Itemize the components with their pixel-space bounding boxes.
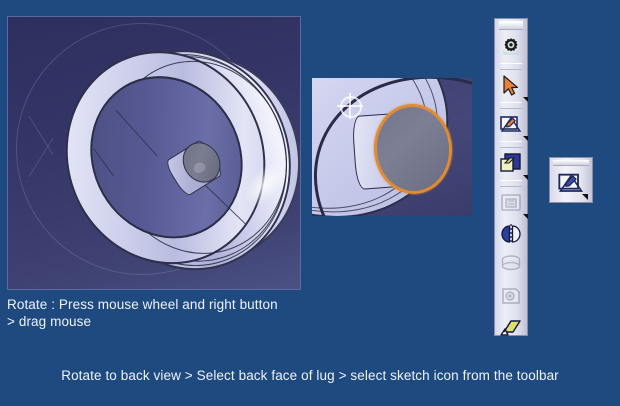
floating-sketch-icon-wrap[interactable] [553, 168, 589, 200]
toolbar-button-pad[interactable] [496, 149, 526, 179]
pad-icon [499, 152, 523, 176]
gear-icon [500, 36, 522, 58]
toolbar-button-mirror[interactable] [496, 219, 526, 249]
toolbar-button-tools-options[interactable] [496, 32, 526, 62]
rotate-caption-line1: Rotate : Press mouse wheel and right but… [7, 296, 337, 313]
floating-drag-handle[interactable] [553, 160, 589, 166]
toolbar-drag-handle[interactable] [499, 21, 523, 30]
toolbar-separator [500, 180, 522, 187]
floating-sketch-button[interactable] [549, 157, 593, 203]
rotate-instruction-caption: Rotate : Press mouse wheel and right but… [7, 296, 337, 330]
chevron-down-icon[interactable] [523, 175, 528, 180]
sketch-icon [499, 113, 523, 137]
toolbar-button-select[interactable] [496, 71, 526, 101]
toolbar-separator [500, 63, 522, 70]
rotate-caption-line2: > drag mouse [7, 313, 337, 330]
chevron-down-icon[interactable] [582, 194, 588, 200]
bottom-instruction-caption: Rotate to back view > Select back face o… [0, 368, 620, 383]
mirror-icon [499, 222, 523, 246]
zoomed-detail-view[interactable] [312, 78, 472, 216]
wheel-rim-model[interactable] [7, 16, 301, 290]
shaft-icon [499, 253, 523, 277]
draft-icon [499, 315, 523, 339]
toolbar-separator [500, 102, 522, 109]
crosshair-cursor-icon [340, 96, 362, 118]
screenshot-root: Rotate : Press mouse wheel and right but… [0, 0, 620, 406]
toolbar-button-hole[interactable] [496, 281, 526, 311]
chevron-down-icon[interactable] [523, 97, 528, 102]
toolbar-separator [500, 141, 522, 148]
chevron-down-icon[interactable] [523, 136, 528, 141]
select-arrow-icon [499, 74, 523, 98]
toolbar-button-shaft[interactable] [496, 250, 526, 280]
toolbar-button-sketch[interactable] [496, 110, 526, 140]
hole-icon [499, 284, 523, 308]
pocket-icon [499, 191, 523, 215]
3d-model-viewport[interactable] [7, 16, 301, 290]
toolbar-button-draft-angle[interactable] [496, 312, 526, 342]
toolbar-button-pocket[interactable] [496, 188, 526, 218]
sketcher-toolbar[interactable] [494, 18, 528, 336]
